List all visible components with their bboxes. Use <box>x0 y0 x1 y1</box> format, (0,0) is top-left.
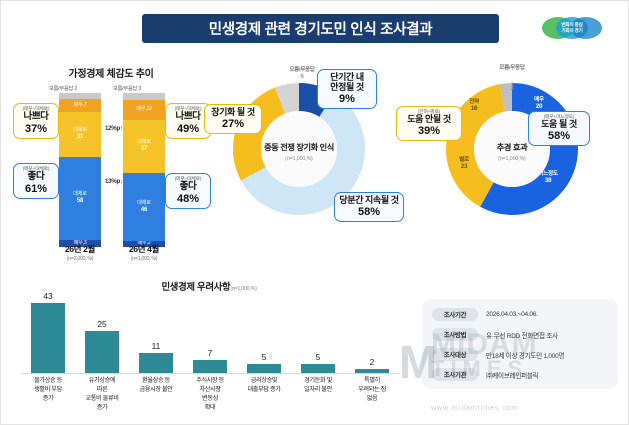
household-chart-title: 가정경제 체감도 추이 <box>13 65 209 80</box>
war-donut-center: 중동 전쟁 장기화 인식 (n=1,000,%) <box>229 137 369 162</box>
concerns-value-3: 7 <box>183 348 237 358</box>
concerns-bar-rect-3: 7 <box>193 360 227 373</box>
concerns-bar-rect-1: 25 <box>85 331 119 373</box>
feb-dk-label: 모름/무응답 2 <box>49 85 77 92</box>
survey-info-value-0: 2026.04.03.~04.06. <box>486 311 538 318</box>
concerns-label-0: 물가상승 등생활비 부담증가 <box>21 377 75 404</box>
concerns-bar-rect-0: 43 <box>31 303 65 373</box>
budget-label-not-much: 별로 23 <box>450 157 478 171</box>
war-center-sub: (n=1,000,%) <box>229 156 369 162</box>
feb-stacked-bar: 매우,7 대체로 31 대체로 58 매우,3 <box>59 93 101 247</box>
budget-dk-label: 모름/무응답 <box>489 65 535 71</box>
concerns-bar-rect-5: 5 <box>301 364 335 373</box>
concerns-bar-0: 43 <box>21 303 75 373</box>
survey-info-row-0: 조사기간 2026.04.03.~04.06. <box>432 307 538 322</box>
budget-label-somewhat: 어느정도 38 <box>530 171 566 185</box>
concerns-value-5: 5 <box>291 352 345 362</box>
callout-war-continue: 당분간 지속될 것 58% <box>334 192 404 222</box>
concerns-bar-rect-4: 5 <box>247 364 281 373</box>
concerns-label-4: 금리상승및대출부담 증가 <box>237 377 291 395</box>
survey-info-key-3: 조사기관 <box>432 368 478 381</box>
concerns-value-6: 2 <box>345 357 399 367</box>
callout-budget-nohelp: (전혀+별로) 도움 안될 것 39% <box>396 106 462 141</box>
concerns-plot-area: 43 25 11 7 5 <box>21 295 399 373</box>
callout-war-short-term: 단기간 내 안정될 것 9% <box>317 69 377 109</box>
budget-label-very: 매우 20 <box>524 97 554 111</box>
logo-line-2: 기회의 경기 <box>561 28 582 33</box>
apr-seg-somewhat-good: 대체로 46 <box>123 173 165 241</box>
callout-bad-feb: (매우+대체로) 나쁘다 37% <box>13 103 59 139</box>
budget-dk-value: 3 <box>500 85 524 92</box>
concerns-label-5: 경기둔화 및일자리 불안 <box>291 377 345 395</box>
watermark-url: www.midamtimes.com <box>431 405 519 412</box>
callout-budget-help: (매우+어느정도) 도움 될 것 58% <box>528 111 590 146</box>
war-short-pct: 9% <box>322 93 372 105</box>
household-economy-panel: 가정경제 체감도 추이 모름/무응답 2 매우,7 대체로 31 대체로 58 … <box>13 63 209 253</box>
delta-bad: 12%p↑ <box>105 125 123 132</box>
concerns-value-2: 11 <box>129 341 183 351</box>
concerns-bar-5: 5 <box>291 364 345 373</box>
concerns-bar-1: 25 <box>75 331 129 373</box>
callout-war-prolong: 장기화 될 것 27% <box>204 104 262 134</box>
concerns-value-4: 5 <box>237 352 291 362</box>
budget-center-title: 추경 효과 <box>497 143 527 152</box>
apr-seg-dk <box>123 93 165 100</box>
concerns-axis-line <box>21 373 399 374</box>
concerns-bar-2: 11 <box>129 353 183 373</box>
apr-axis-label: 26년 4월 (n=1,000, %) <box>109 243 179 262</box>
logo-line-1: 변화의 중심 <box>561 22 582 27</box>
survey-info-key-1: 조사방법 <box>432 328 478 341</box>
feb-seg-somewhat-bad: 대체로 31 <box>59 112 101 157</box>
apr-stacked-bar: 매우,12 대체로 37 대체로 46 매우,2 <box>123 93 165 247</box>
survey-info-value-3: ㈜케이브레인퍼블릭 <box>486 370 538 380</box>
budget-label-not-at-all: 전혀 16 <box>460 99 488 113</box>
concerns-bar-3: 7 <box>183 360 237 373</box>
concerns-label-1: 유가상승에따른교통비 물류비증가 <box>75 377 129 413</box>
survey-info-row-1: 조사방법 유·무선 RDD 전화면접 조사 <box>432 327 558 342</box>
survey-info-key-2: 조사대상 <box>432 348 478 361</box>
page-title: 민생경제 관련 경기도민 인식 조사결과 <box>209 18 433 39</box>
survey-info-value-1: 유·무선 RDD 전화면접 조사 <box>486 330 558 340</box>
logo-text: 변화의 중심 기회의 경기 <box>538 22 606 34</box>
war-short-line2: 안정될 것 <box>322 83 372 93</box>
apr-dk-label: 모름/무응답 3 <box>113 85 141 92</box>
concerns-value-0: 43 <box>21 291 75 301</box>
concerns-value-1: 25 <box>75 319 129 329</box>
survey-info-key-0: 조사기간 <box>432 308 478 321</box>
survey-info-value-2: 만18세 이상 경기도민 1,000명 <box>486 350 564 360</box>
feb-seg-somewhat-good: 대체로 58 <box>59 157 101 240</box>
infographic-page: 민생경제 관련 경기도민 인식 조사결과 변화의 중심 기회의 경기 가정경제 … <box>0 0 629 425</box>
callout-good-feb: (매우+대체로) 좋다 61% <box>13 163 59 199</box>
concerns-label-2: 환율상승 등금융시장 불안 <box>129 377 183 395</box>
gyeonggi-logo: 변화의 중심 기회의 경기 <box>538 15 606 41</box>
apr-seg-somewhat-bad: 대체로 37 <box>123 120 165 173</box>
page-title-bar: 민생경제 관련 경기도민 인식 조사결과 <box>142 14 499 43</box>
feb-seg-very-bad: 매우,7 <box>59 99 101 112</box>
survey-info-row-2: 조사대상 만18세 이상 경기도민 1,000명 <box>432 347 564 362</box>
feb-axis-label: 26년 2월 (n=2,000, %) <box>45 243 115 262</box>
callout-good-apr: (매우+대체로) 좋다 48% <box>165 173 211 209</box>
survey-info-box: 조사기간 2026.04.03.~04.06. 조사방법 유·무선 RDD 전화… <box>422 299 618 389</box>
concerns-label-3: 주식시장 등자산시장변동성확대 <box>183 377 237 413</box>
delta-good: 13%p↓ <box>105 178 123 185</box>
apr-seg-very-bad: 매우,12 <box>123 100 165 120</box>
war-center-title: 중동 전쟁 장기화 인식 <box>264 143 334 152</box>
concerns-label-6: 특별히우려되는 점없음 <box>345 377 399 404</box>
concerns-bar-rect-2: 11 <box>139 353 173 373</box>
survey-info-row-3: 조사기관 ㈜케이브레인퍼블릭 <box>432 367 538 382</box>
budget-donut-chart: 추경 효과 (n=1,000,%) 모름/무응답 3 매우 20 어느정도 38… <box>442 79 582 219</box>
concerns-chart-panel: 민생경제 우려사항(n=1,000,%) 43 25 11 7 <box>13 279 405 421</box>
concerns-bar-4: 5 <box>237 364 291 373</box>
